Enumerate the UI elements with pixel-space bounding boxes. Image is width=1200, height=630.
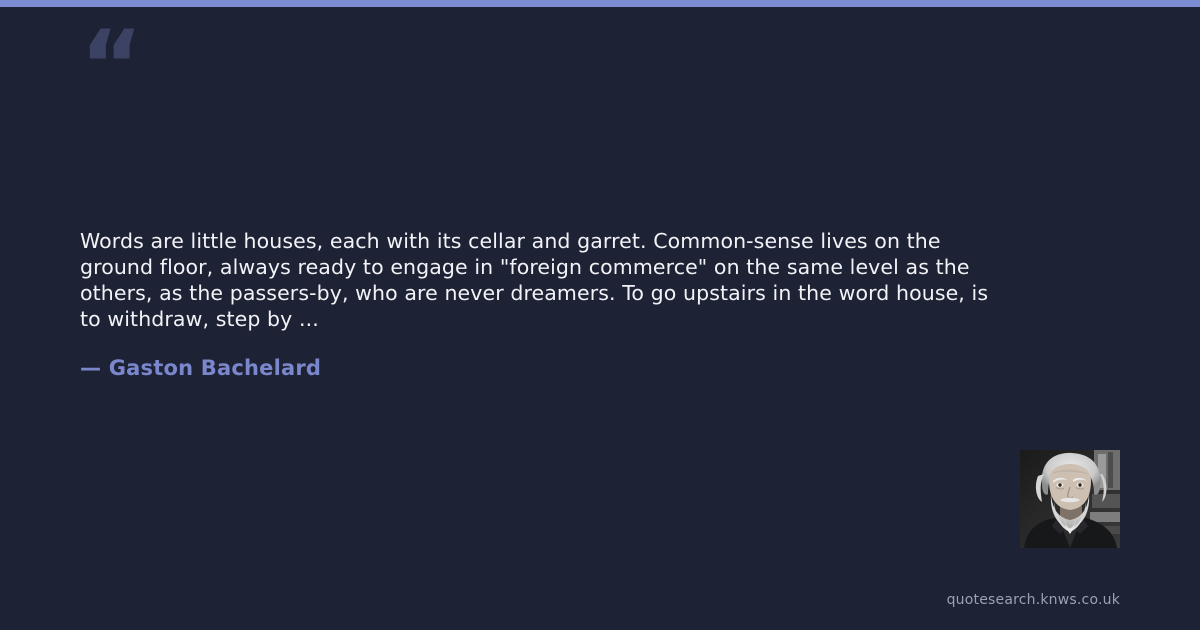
quote-author: — Gaston Bachelard bbox=[80, 355, 321, 381]
author-portrait bbox=[1020, 450, 1120, 548]
open-quote-icon: “ bbox=[80, 18, 141, 114]
quote-text: Words are little houses, each with its c… bbox=[80, 228, 990, 332]
source-url: quotesearch.knws.co.uk bbox=[947, 591, 1120, 609]
top-accent-bar bbox=[0, 0, 1200, 7]
quote-card: “ Words are little houses, each with its… bbox=[0, 0, 1200, 630]
